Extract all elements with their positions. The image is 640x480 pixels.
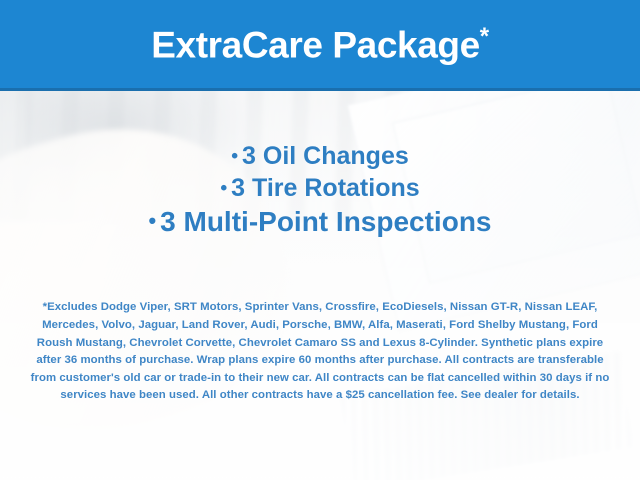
- benefit-label: 3 Multi-Point Inspections: [160, 206, 491, 237]
- header-banner: ExtraCare Package*: [0, 0, 640, 91]
- bullet-icon: •: [149, 208, 157, 233]
- extracare-promo-card: ExtraCare Package* •3 Oil Changes •3 Tir…: [0, 0, 640, 480]
- disclaimer-text: *Excludes Dodge Viper, SRT Motors, Sprin…: [28, 299, 612, 405]
- bullet-icon: •: [231, 145, 238, 167]
- list-item: •3 Multi-Point Inspections: [0, 204, 640, 240]
- list-item: •3 Tire Rotations: [0, 172, 640, 204]
- page-title-text: ExtraCare Package: [151, 24, 479, 65]
- benefits-list: •3 Oil Changes •3 Tire Rotations •3 Mult…: [0, 140, 640, 240]
- page-title: ExtraCare Package*: [151, 25, 488, 63]
- title-asterisk-marker: *: [480, 23, 489, 50]
- bullet-icon: •: [220, 177, 227, 199]
- list-item: •3 Oil Changes: [0, 140, 640, 172]
- benefit-label: 3 Oil Changes: [242, 142, 409, 170]
- benefit-label: 3 Tire Rotations: [231, 174, 419, 202]
